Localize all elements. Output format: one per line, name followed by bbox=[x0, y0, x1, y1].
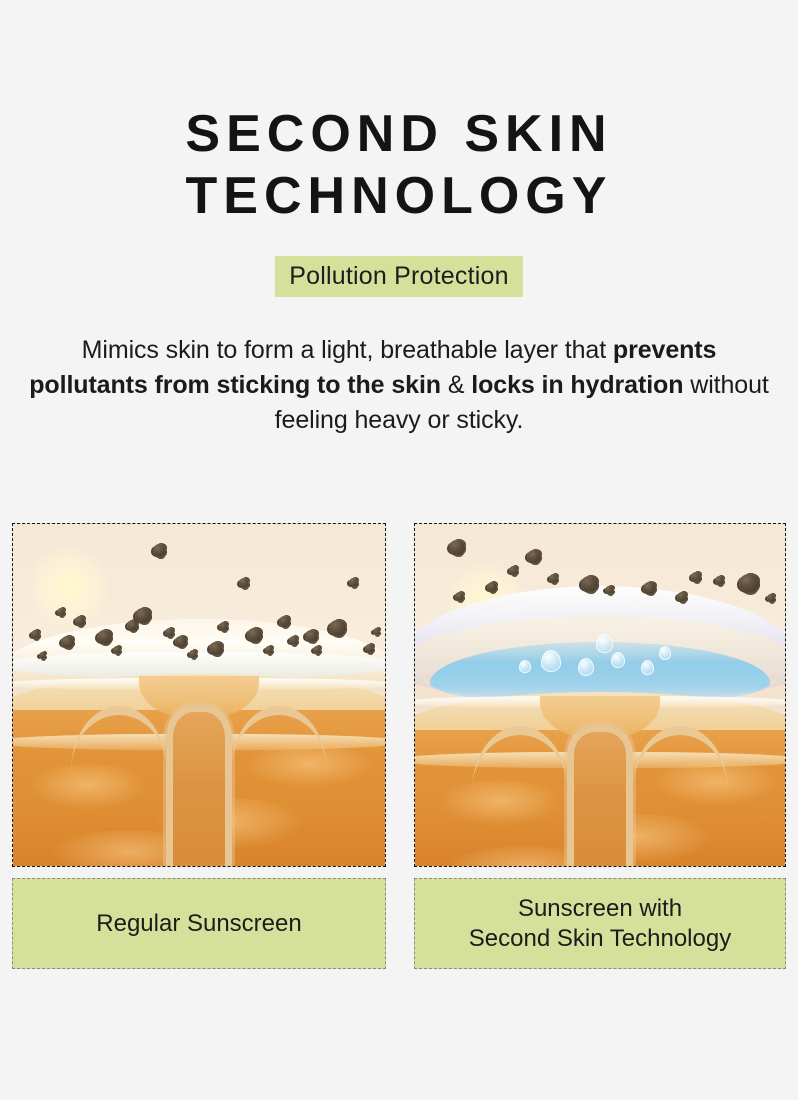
pollution-particle bbox=[75, 616, 85, 626]
comparison-panel-regular: Regular Sunscreen bbox=[12, 523, 386, 969]
pore-group bbox=[13, 524, 385, 866]
pollution-particle bbox=[265, 646, 273, 654]
pollution-particle bbox=[247, 628, 262, 642]
description-part-1: Mimics skin to form a light, breathable … bbox=[82, 336, 613, 364]
caption-second-skin: Sunscreen with Second Skin Technology bbox=[414, 878, 786, 969]
pollution-particle bbox=[31, 630, 40, 639]
pollution-particle bbox=[209, 642, 223, 655]
pollution-particle bbox=[767, 594, 775, 602]
pollution-particle bbox=[739, 574, 759, 593]
page-title: SECOND SKIN TECHNOLOGY bbox=[0, 103, 798, 227]
pollution-particle bbox=[239, 578, 249, 588]
subtitle-container: Pollution Protection bbox=[0, 256, 798, 297]
pollution-particle bbox=[97, 630, 112, 644]
pollution-particle bbox=[135, 608, 151, 623]
pollution-particle bbox=[691, 572, 701, 582]
pollution-particle bbox=[365, 644, 374, 653]
follicle-wall-right bbox=[632, 726, 728, 804]
pollution-particle bbox=[175, 636, 187, 647]
pollution-particle bbox=[189, 650, 197, 658]
pollution-particle bbox=[349, 578, 358, 587]
pollution-particle bbox=[313, 646, 321, 654]
pollution-particle bbox=[61, 636, 74, 648]
pollution-particle bbox=[127, 620, 138, 631]
pollution-particle bbox=[455, 592, 464, 601]
hair-follicle-channel bbox=[574, 732, 626, 867]
pore-group bbox=[415, 524, 785, 866]
caption-line-2: Second Skin Technology bbox=[469, 924, 731, 954]
pollution-particle bbox=[57, 608, 65, 616]
pollution-particle bbox=[449, 540, 465, 555]
caption-line-1: Regular Sunscreen bbox=[96, 909, 301, 939]
hair-follicle-channel bbox=[173, 712, 225, 867]
pollution-particle bbox=[549, 574, 558, 583]
pollution-particle bbox=[605, 586, 614, 594]
pollution-protection-infographic: SECOND SKIN TECHNOLOGY Pollution Protect… bbox=[0, 0, 798, 1100]
pollution-particle bbox=[219, 622, 228, 631]
pollution-particle bbox=[509, 566, 518, 575]
pollution-particle bbox=[39, 652, 46, 659]
caption-regular-sunscreen: Regular Sunscreen bbox=[12, 878, 386, 969]
pollution-particle bbox=[279, 616, 290, 627]
title-line-2: TECHNOLOGY bbox=[0, 165, 798, 227]
description-text: Mimics skin to form a light, breathable … bbox=[28, 333, 770, 438]
pollution-particle bbox=[715, 576, 724, 585]
pollution-particle bbox=[289, 636, 298, 645]
description-part-2: & bbox=[441, 371, 471, 399]
pollution-particle bbox=[329, 620, 346, 636]
pollution-particle bbox=[487, 582, 497, 592]
skin-diagram-regular bbox=[12, 523, 386, 867]
comparison-panels: Regular Sunscreen bbox=[0, 523, 798, 969]
pollution-particle bbox=[581, 576, 598, 592]
comparison-panel-second-skin: Sunscreen with Second Skin Technology bbox=[414, 523, 786, 969]
pollution-particle bbox=[165, 628, 174, 637]
pollution-particle bbox=[153, 544, 166, 557]
description-bold-2: locks in hydration bbox=[471, 371, 683, 399]
pollution-particle bbox=[527, 550, 541, 563]
pollution-particle bbox=[643, 582, 656, 594]
skin-diagram-second-skin bbox=[414, 523, 786, 867]
pollution-particle bbox=[113, 646, 121, 654]
pollution-particle bbox=[677, 592, 687, 602]
title-line-1: SECOND SKIN bbox=[185, 105, 612, 163]
follicle-wall-left bbox=[472, 726, 568, 804]
pollution-particle bbox=[373, 628, 380, 635]
subtitle-badge: Pollution Protection bbox=[275, 256, 522, 297]
pollution-particle bbox=[305, 630, 318, 642]
follicle-wall-left bbox=[71, 706, 167, 784]
follicle-wall-right bbox=[231, 706, 327, 784]
caption-line-1: Sunscreen with bbox=[469, 894, 731, 924]
